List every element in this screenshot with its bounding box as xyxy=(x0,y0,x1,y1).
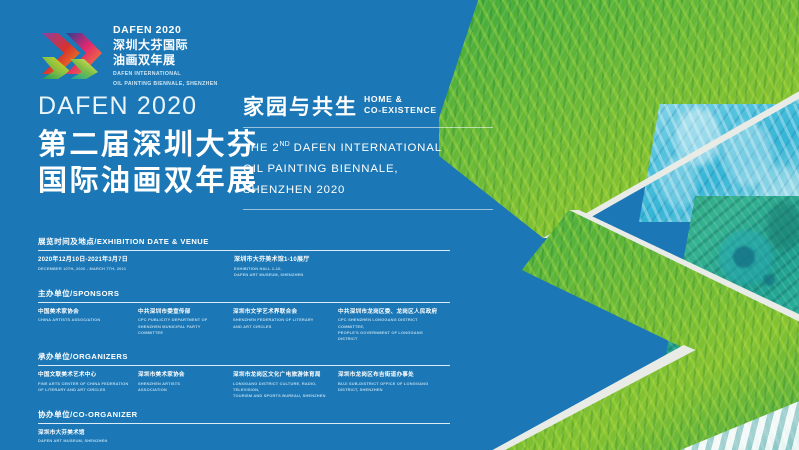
info-entry-row: 中国美术家协会CHINA ARTISTS ASSOCIATION中共深圳市委宣传… xyxy=(38,308,450,343)
info-entry-cn: 深圳市美术家协会 xyxy=(138,371,225,379)
subtitle-line-1-pre: THE 2 xyxy=(243,142,280,154)
info-section-rule xyxy=(38,302,450,303)
info-entry-cn: 2020年12月10日-2021年3月7日 xyxy=(38,256,128,265)
info-entry-en: DAFEN ART MUSEUM, SHENZHEN xyxy=(38,438,107,444)
info-entry-en: CPC PUBLICITY DEPARTMENT OFSHENZHEN MUNI… xyxy=(138,317,225,336)
info-entry-en: CHINA ARTISTS ASSOCIATION xyxy=(38,317,130,323)
info-section-sponsors: 主办单位/SPONSORS中国美术家协会CHINA ARTISTS ASSOCI… xyxy=(38,288,450,343)
dafen-logo: DAFEN 2020 深圳大芬国际 油画双年展 DAFEN INTERNATIO… xyxy=(40,23,218,88)
info-entry-en: FINE ARTS CENTER OF CHINA FEDERATIONOF L… xyxy=(38,381,130,394)
poster-left-content: DAFEN 2020 深圳大芬国际 油画双年展 DAFEN INTERNATIO… xyxy=(0,0,460,450)
subtitle-en: THE 2ND DAFEN INTERNATIONAL OIL PAINTING… xyxy=(243,138,493,201)
theme-divider-bottom xyxy=(243,209,493,210)
subtitle-line-1-post: DAFEN INTERNATIONAL xyxy=(290,142,442,154)
info-section-heading: 承办单位/ORGANIZERS xyxy=(38,351,450,362)
info-entry-cn: 中国美术家协会 xyxy=(38,308,130,316)
subtitle-line-2: OIL PAINTING BIENNALE, xyxy=(243,163,398,175)
dafen-chevron-logomark-icon xyxy=(40,29,104,81)
info-entry-en: SHENZHEN ARTISTSASSOCIATION xyxy=(138,381,225,394)
logo-line-small-2: OIL PAINTING BIENNALE, SHENZHEN xyxy=(113,81,218,88)
info-entry-row: 2020年12月10日-2021年3月7日DECEMBER 10TH, 2020… xyxy=(38,256,450,279)
info-entry: 深圳市大芬美术馆1-10展厅EXHIBITION HALL 1-10,DAFEN… xyxy=(234,256,318,279)
info-section-rule xyxy=(38,365,450,366)
info-section-heading: 展览时间及地点/EXHIBITION DATE & VENUE xyxy=(38,236,450,247)
info-entry-row: 中国文联美术艺术中心FINE ARTS CENTER OF CHINA FEDE… xyxy=(38,371,450,399)
info-entry: 中国文联美术艺术中心FINE ARTS CENTER OF CHINA FEDE… xyxy=(38,371,138,399)
info-entry-en: LONGGANG DISTRICT CULTURE, RADIO, TELEVI… xyxy=(233,381,330,400)
info-entry-cn: 深圳市大芬美术馆 xyxy=(38,429,107,437)
info-section-heading: 主办单位/SPONSORS xyxy=(38,288,450,299)
info-section-rule xyxy=(38,423,450,424)
info-section-co-organizer: 协办单位/CO-ORGANIZER深圳市大芬美术馆DAFEN ART MUSEU… xyxy=(38,409,450,445)
theme-divider-top xyxy=(243,127,493,128)
info-entry-en: SHENZHEN FEDERATION OF LITERARYAND ART C… xyxy=(233,317,330,330)
subtitle-line-3: SHENZHEN 2020 xyxy=(243,184,345,196)
info-section-organizers: 承办单位/ORGANIZERS中国文联美术艺术中心FINE ARTS CENTE… xyxy=(38,351,450,399)
logo-line-cn-2: 油画双年展 xyxy=(113,53,218,68)
title-block: DAFEN 2020 第二届深圳大芬 国际油画双年展 家园与共生 HOME & … xyxy=(38,94,450,200)
info-entry-en: DECEMBER 10TH, 2020 - MARCH 7TH, 2021 xyxy=(38,266,128,272)
theme-block: 家园与共生 HOME & CO-EXISTENCE THE 2ND DAFEN … xyxy=(243,94,493,220)
info-entry: 深圳市龙岗区文化广电旅游体育局LONGGANG DISTRICT CULTURE… xyxy=(233,371,338,399)
info-entry-cn: 中共深圳市委宣传部 xyxy=(138,308,225,316)
theme-en: HOME & CO-EXISTENCE xyxy=(364,94,437,118)
chevron-artwork-collage xyxy=(439,0,799,450)
logo-line-en: DAFEN 2020 xyxy=(113,25,218,37)
info-entry-en: BUJI SUB-DISTRICT OFFICE OF LONGGANGDIST… xyxy=(338,381,442,394)
theme-en-line-1: HOME & xyxy=(364,94,403,104)
theme-en-line-2: CO-EXISTENCE xyxy=(364,105,437,115)
info-entry-cn: 中国文联美术艺术中心 xyxy=(38,371,130,379)
info-entry: 2020年12月10日-2021年3月7日DECEMBER 10TH, 2020… xyxy=(38,256,136,279)
info-entry: 深圳市龙岗区布吉街道办事处BUJI SUB-DISTRICT OFFICE OF… xyxy=(338,371,450,399)
info-entry-cn: 深圳市龙岗区布吉街道办事处 xyxy=(338,371,442,379)
logo-line-small-1: DAFEN INTERNATIONAL xyxy=(113,71,218,78)
info-entry-cn: 中共深圳市龙岗区委、龙岗区人民政府 xyxy=(338,308,442,316)
info-entry: 深圳市文学艺术界联合会SHENZHEN FEDERATION OF LITERA… xyxy=(233,308,338,343)
info-sections: 展览时间及地点/EXHIBITION DATE & VENUE2020年12月1… xyxy=(38,236,450,450)
info-entry: 深圳市大芬美术馆DAFEN ART MUSEUM, SHENZHEN xyxy=(38,429,115,445)
info-section-heading: 协办单位/CO-ORGANIZER xyxy=(38,409,450,420)
info-entry-row: 深圳市大芬美术馆DAFEN ART MUSEUM, SHENZHEN xyxy=(38,429,450,445)
logo-wordmark: DAFEN 2020 深圳大芬国际 油画双年展 DAFEN INTERNATIO… xyxy=(113,23,218,88)
info-entry-cn: 深圳市文学艺术界联合会 xyxy=(233,308,330,316)
info-entry-cn: 深圳市龙岗区文化广电旅游体育局 xyxy=(233,371,330,379)
info-entry: 中共深圳市委宣传部CPC PUBLICITY DEPARTMENT OFSHEN… xyxy=(138,308,233,343)
subtitle-line-1-sup: ND xyxy=(280,141,290,148)
info-entry: 中共深圳市龙岗区委、龙岗区人民政府CPC SHENZHEN LONGGANG D… xyxy=(338,308,450,343)
poster-canvas: DAFEN 2020 深圳大芬国际 油画双年展 DAFEN INTERNATIO… xyxy=(0,0,799,450)
theme-cn: 家园与共生 xyxy=(243,97,358,118)
info-entry-cn: 深圳市大芬美术馆1-10展厅 xyxy=(234,256,310,265)
info-section-date-venue: 展览时间及地点/EXHIBITION DATE & VENUE2020年12月1… xyxy=(38,236,450,279)
info-entry: 深圳市美术家协会SHENZHEN ARTISTSASSOCIATION xyxy=(138,371,233,399)
info-entry-en: CPC SHENZHEN LONGGANG DISTRICT COMMITTEE… xyxy=(338,317,442,342)
info-entry-en: EXHIBITION HALL 1-10,DAFEN ART MUSEUM, S… xyxy=(234,266,310,279)
theme-heading: 家园与共生 HOME & CO-EXISTENCE xyxy=(243,94,493,118)
info-section-rule xyxy=(38,250,450,251)
info-entry: 中国美术家协会CHINA ARTISTS ASSOCIATION xyxy=(38,308,138,343)
logo-line-cn-1: 深圳大芬国际 xyxy=(113,38,218,53)
